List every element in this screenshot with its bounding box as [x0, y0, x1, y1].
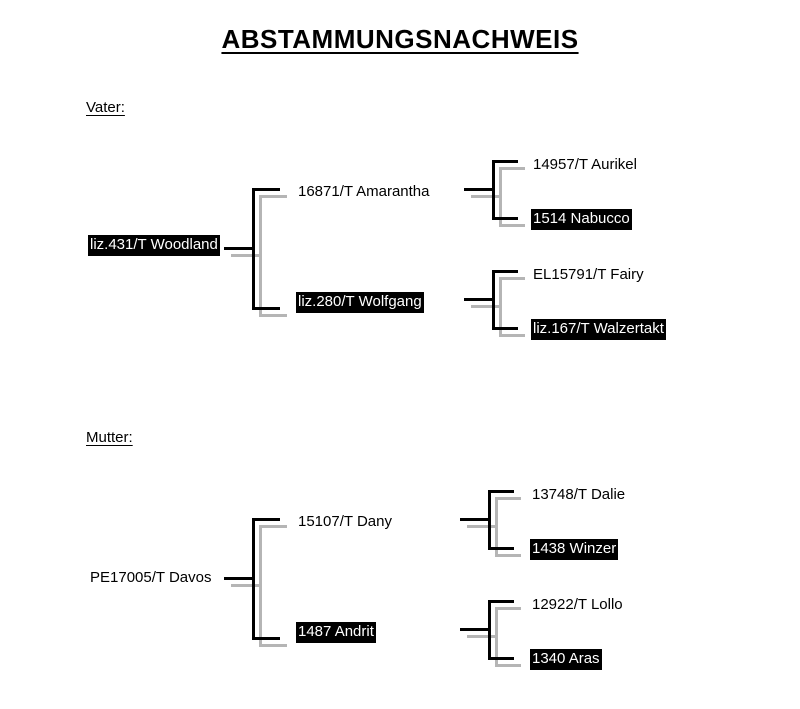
section-heading-vater: Vater:	[86, 99, 125, 116]
mother-dam-sire-node: 12922/T Lollo	[530, 595, 625, 616]
mother-sire-bracket	[488, 490, 514, 550]
mother-sire-dam-node: 1438 Winzer	[530, 539, 618, 560]
mother-dam-node: 1487 Andrit	[296, 622, 376, 643]
father-sire-bracket	[492, 160, 518, 220]
father-sire-sire-node: 14957/T Aurikel	[531, 155, 639, 176]
father-dam-dam-node: liz.167/T Walzertakt	[531, 319, 666, 340]
mother-sire-node: 15107/T Dany	[296, 512, 394, 533]
father-main-bracket	[252, 188, 280, 310]
father-subject-node: liz.431/T Woodland	[88, 235, 220, 256]
mother-subject-node: PE17005/T Davos	[88, 568, 213, 589]
mother-main-bracket	[252, 518, 280, 640]
pedigree-certificate-page: ABSTAMMUNGSNACHWEIS Vater: liz.431/T Woo…	[0, 0, 800, 709]
father-dam-sire-node: EL15791/T Fairy	[531, 265, 646, 286]
father-sire-node: 16871/T Amarantha	[296, 182, 431, 203]
father-dam-bracket	[492, 270, 518, 330]
father-sire-dam-node: 1514 Nabucco	[531, 209, 632, 230]
section-heading-mutter: Mutter:	[86, 429, 133, 446]
page-title: ABSTAMMUNGSNACHWEIS	[0, 24, 800, 55]
mother-dam-bracket	[488, 600, 514, 660]
father-dam-node: liz.280/T Wolfgang	[296, 292, 424, 313]
mother-sire-sire-node: 13748/T Dalie	[530, 485, 627, 506]
mother-dam-dam-node: 1340 Aras	[530, 649, 602, 670]
